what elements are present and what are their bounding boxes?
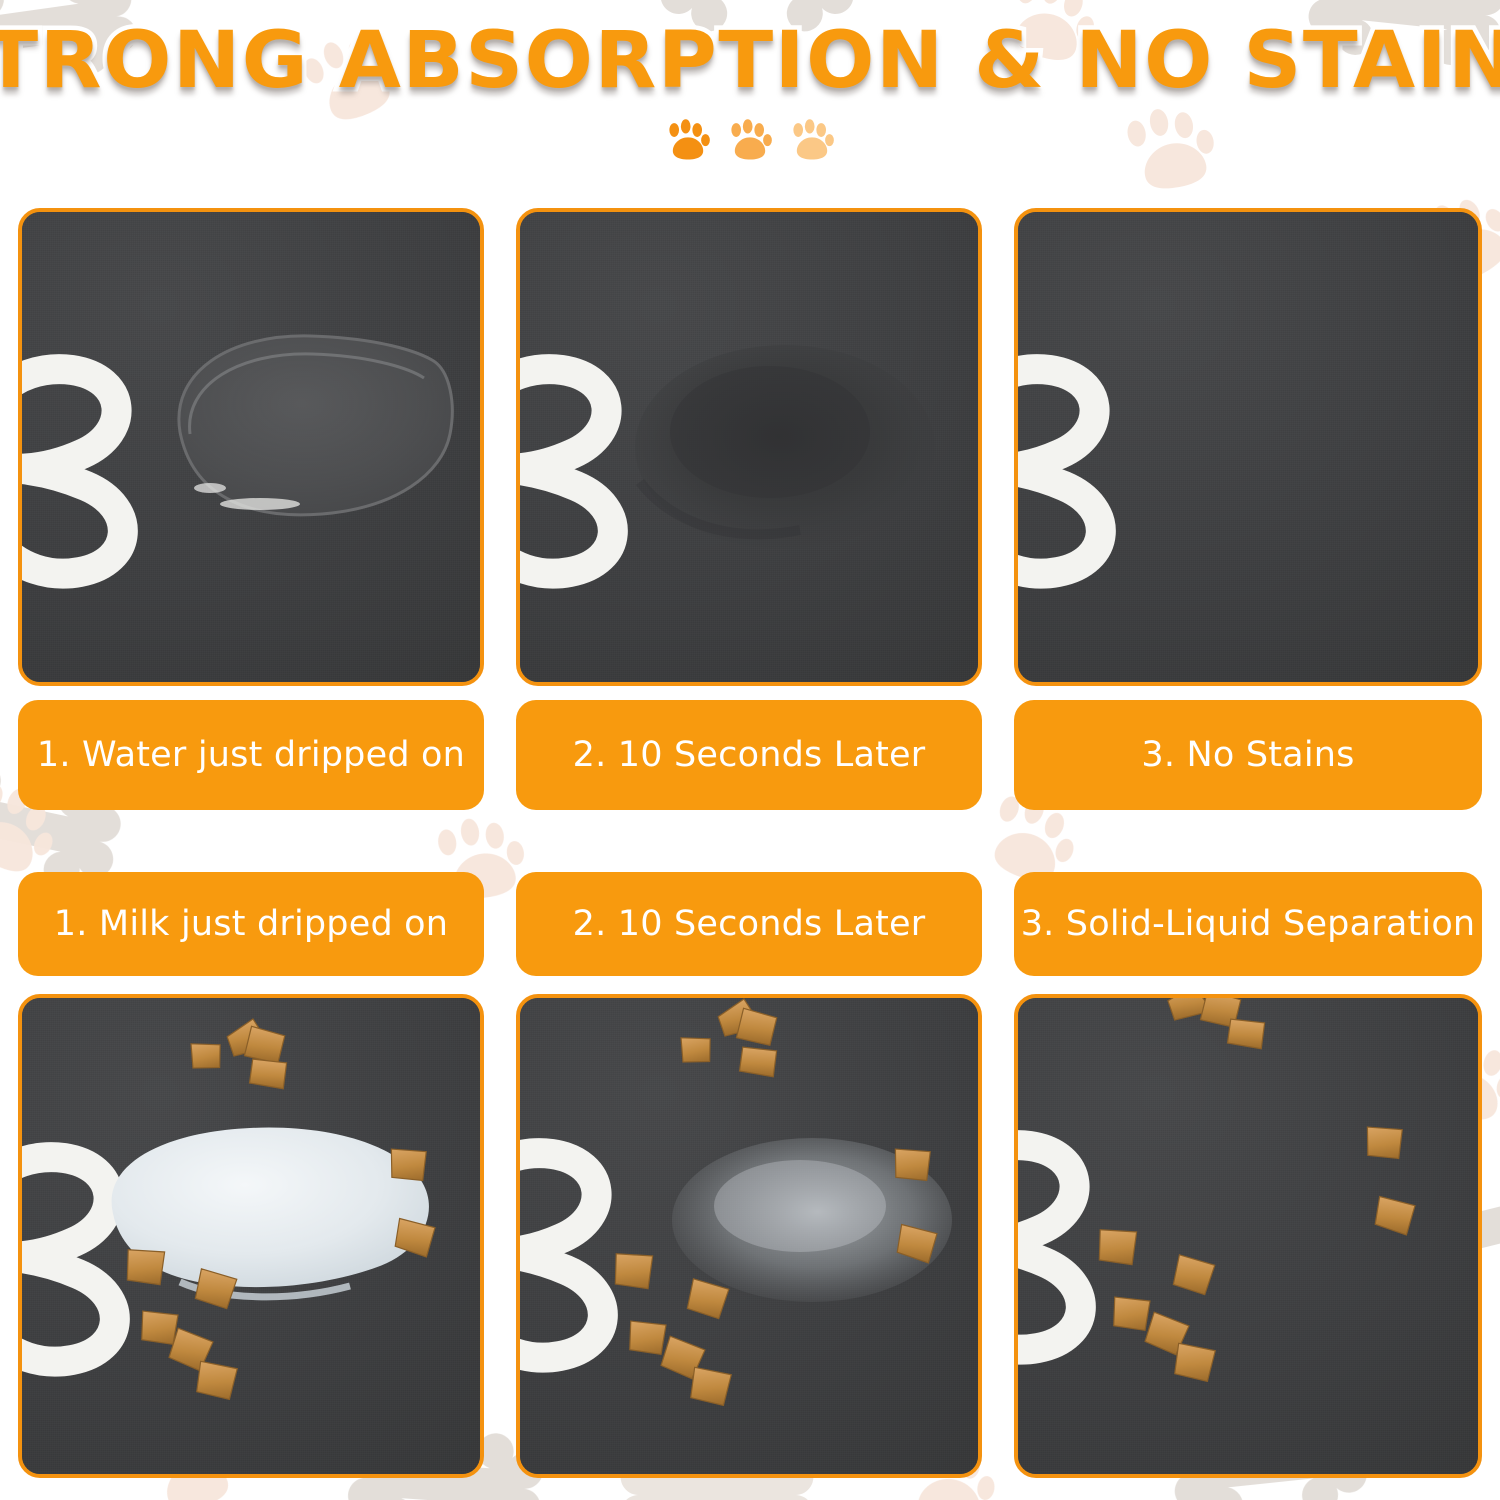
paw-print-icon-3 [789, 118, 835, 166]
page-title: STRONG ABSORPTION & NO STAINS [0, 22, 1500, 100]
water-puddle-shape [150, 312, 470, 562]
kibble-pieces-group [1018, 998, 1482, 1478]
caption-text: 2. 10 Seconds Later [573, 735, 926, 775]
paw-divider [665, 118, 835, 166]
caption-water-3: 3. No Stains [1014, 700, 1482, 810]
caption-text: 2. 10 Seconds Later [573, 904, 926, 944]
header: STRONG ABSORPTION & NO STAINS [0, 0, 1500, 200]
damp-patch-shape [620, 332, 950, 572]
caption-water-2: 2. 10 Seconds Later [516, 700, 982, 810]
photo-panel-milk-1 [18, 994, 484, 1478]
kibble-pieces-group [520, 998, 982, 1478]
photo-panel-milk-3 [1014, 994, 1482, 1478]
caption-text: 1. Water just dripped on [37, 735, 465, 775]
demo-grid: 1. Water just dripped on 2. 10 Second [0, 0, 1500, 1500]
kibble-pieces-group [22, 998, 484, 1478]
caption-text: 3. Solid-Liquid Separation [1021, 904, 1476, 944]
paw-print-icon-2 [727, 118, 773, 166]
mat-logo-icon [1014, 322, 1170, 622]
caption-text: 3. No Stains [1141, 735, 1354, 775]
paw-print-icon-1 [665, 118, 711, 166]
caption-water-1: 1. Water just dripped on [18, 700, 484, 810]
photo-panel-water-1 [18, 208, 484, 686]
photo-panel-milk-2 [516, 994, 982, 1478]
photo-panel-water-2 [516, 208, 982, 686]
caption-milk-1: 1. Milk just dripped on [18, 872, 484, 976]
caption-text: 1. Milk just dripped on [54, 904, 448, 944]
photo-panel-water-3 [1014, 208, 1482, 686]
caption-milk-2: 2. 10 Seconds Later [516, 872, 982, 976]
caption-milk-3: 3. Solid-Liquid Separation [1014, 872, 1482, 976]
